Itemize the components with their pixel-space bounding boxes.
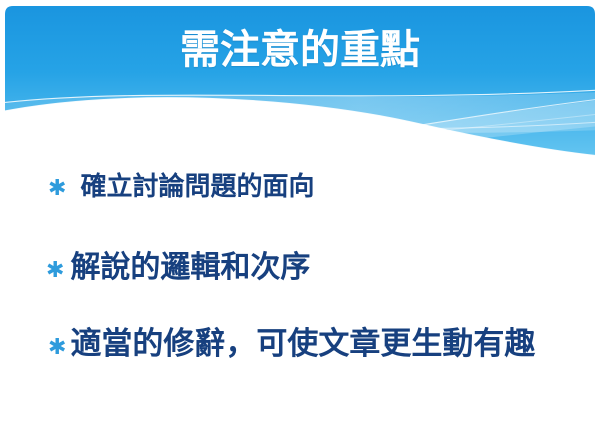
presentation-slide: 需注意的重點 ✱ 確立討論問題的面向 ✱ 解說的邏輯和次序 ✱ 適當的修辭，可使… xyxy=(0,0,600,425)
bullet-item-1: ✱ 確立討論問題的面向 xyxy=(0,166,600,242)
bullet-item-2-text: 解說的邏輯和次序 xyxy=(64,242,310,286)
bullet-list: ✱ 確立討論問題的面向 ✱ 解說的邏輯和次序 ✱ 適當的修辭，可使文章更生動有趣 xyxy=(0,166,600,394)
asterisk-bullet-icon: ✱ xyxy=(46,260,64,282)
bullet-item-1-text: 確立討論問題的面向 xyxy=(66,166,314,203)
bullet-item-2: ✱ 解說的邏輯和次序 xyxy=(0,242,600,318)
slide-header-banner: 需注意的重點 xyxy=(0,0,600,160)
asterisk-bullet-icon: ✱ xyxy=(48,178,66,200)
bullet-item-3-text: 適當的修辭，可使文章更生動有趣 xyxy=(66,318,535,363)
bullet-item-3: ✱ 適當的修辭，可使文章更生動有趣 xyxy=(0,318,600,394)
asterisk-bullet-icon: ✱ xyxy=(48,337,66,359)
slide-title: 需注意的重點 xyxy=(0,24,600,76)
